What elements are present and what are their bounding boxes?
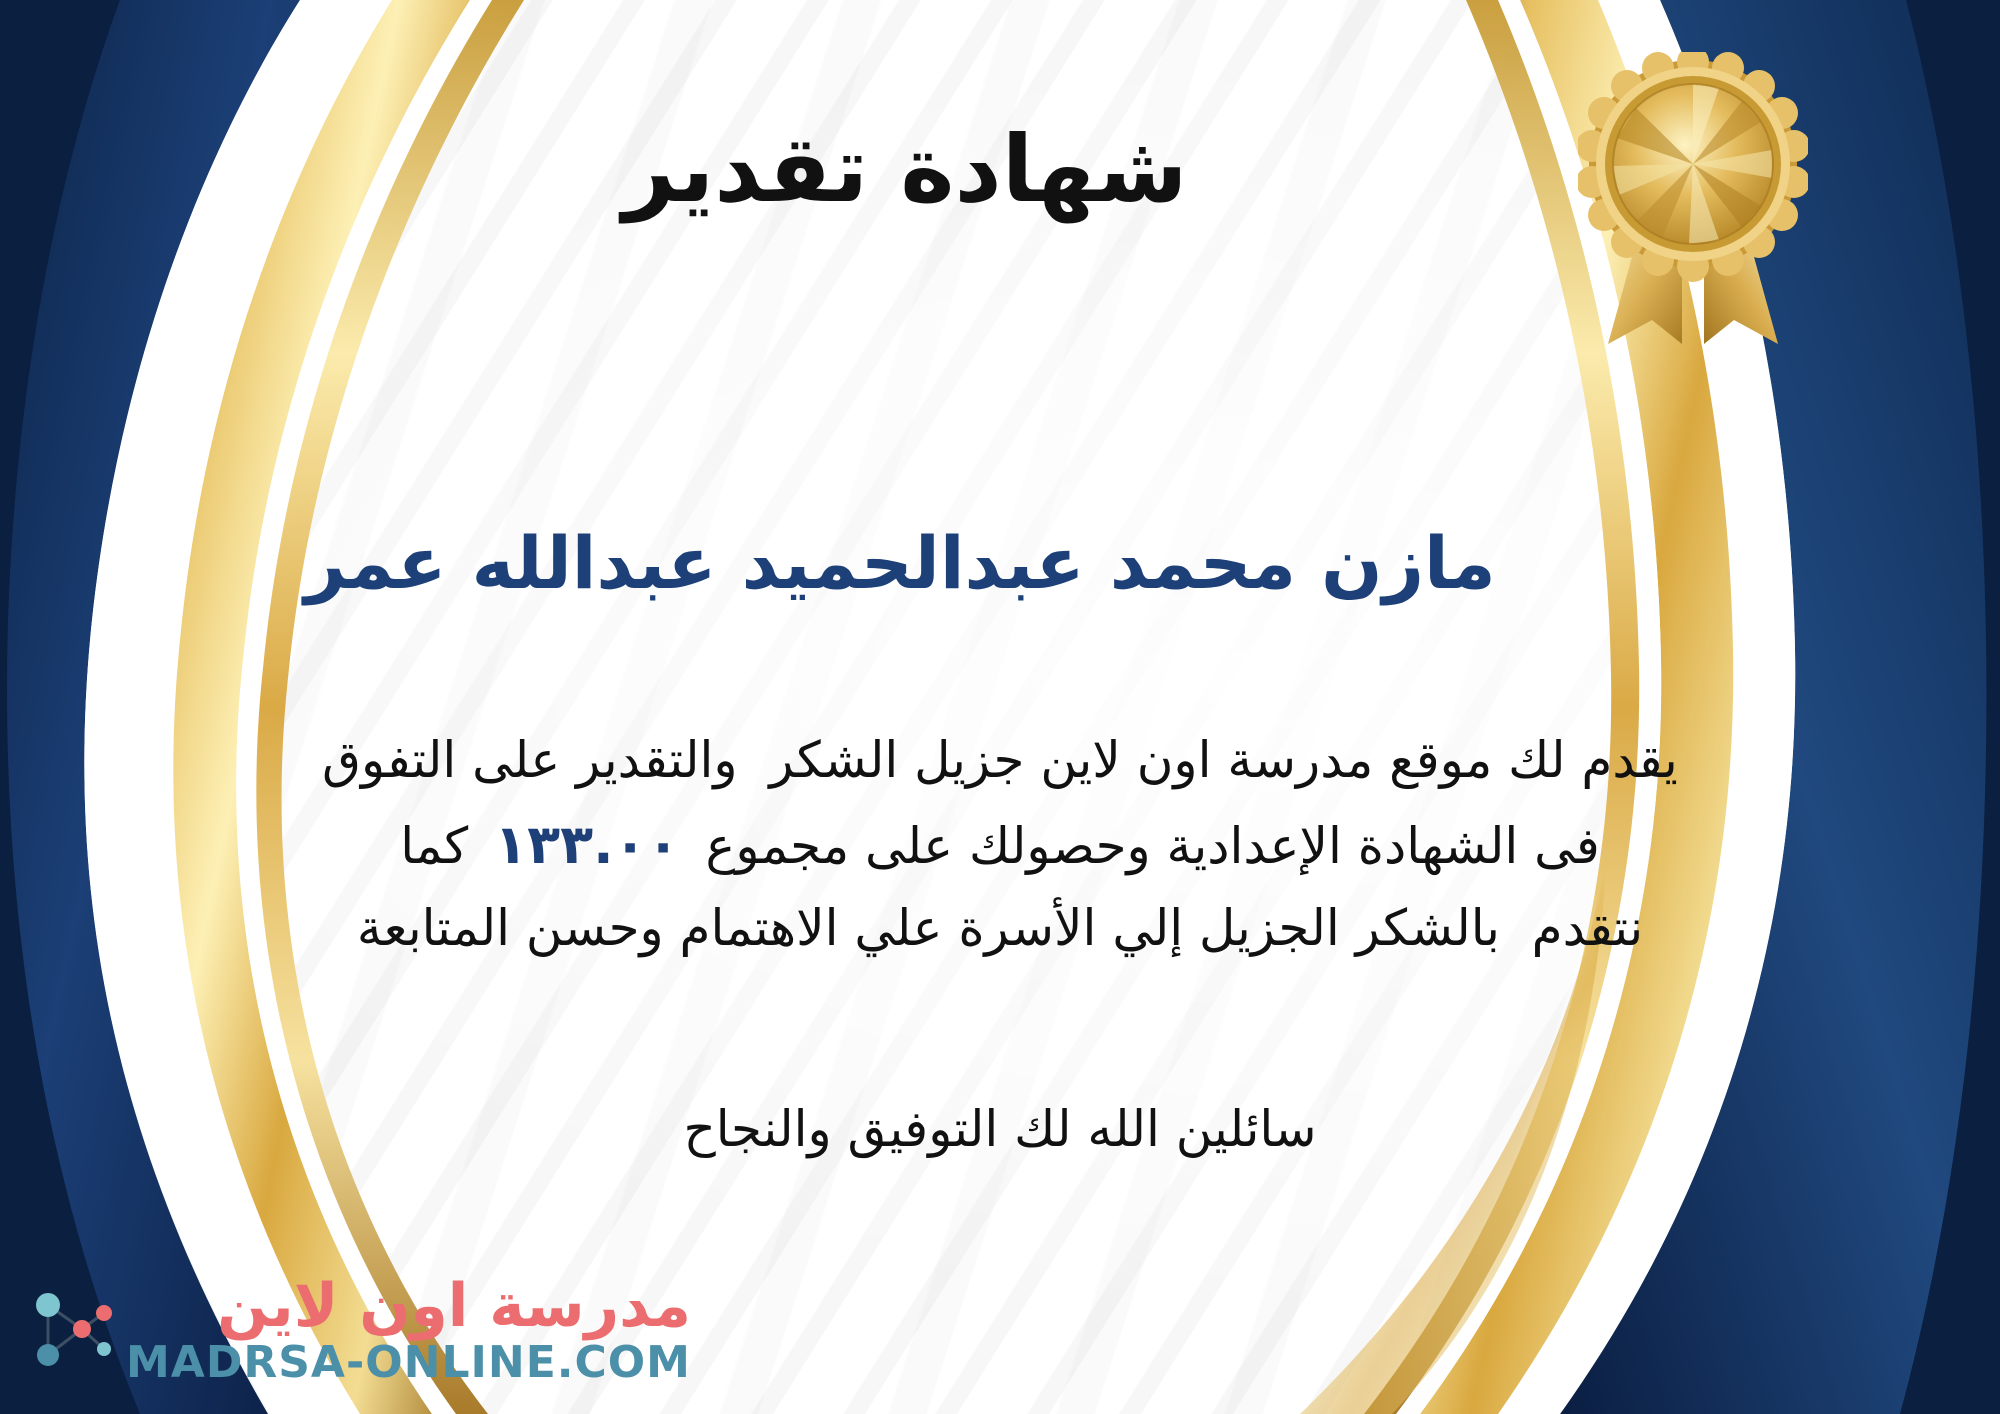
closing-line: سائلين الله لك التوفيق والنجاح <box>60 1100 1940 1158</box>
brand-text-group: مدرسة اون لاين MADRSA-ONLINE.COM <box>126 1276 691 1386</box>
grade-value: ١٣٣.٠٠ <box>468 813 705 876</box>
brand-name-arabic: مدرسة اون لاين <box>217 1276 691 1336</box>
certificate-title: شهادة تقدير <box>0 118 1810 221</box>
brand-logo[interactable]: مدرسة اون لاين MADRSA-ONLINE.COM <box>24 1276 691 1386</box>
body-line-2-before: فى الشهادة الإعدادية وحصولك على مجموع <box>706 817 1600 875</box>
network-nodes-icon <box>24 1285 116 1377</box>
body-line-2-after: كما <box>400 817 468 875</box>
body-line-1: يقدم لك موقع مدرسة اون لاين جزيل الشكر و… <box>60 720 1940 801</box>
body-line-2: فى الشهادة الإعدادية وحصولك على مجموع١٣٣… <box>60 801 1940 888</box>
body-line-3: نتقدم بالشكر الجزيل إلي الأسرة علي الاهت… <box>60 888 1940 969</box>
certificate-body: يقدم لك موقع مدرسة اون لاين جزيل الشكر و… <box>60 720 1940 969</box>
brand-website-url[interactable]: MADRSA-ONLINE.COM <box>126 1340 691 1386</box>
student-name: مازن محمد عبدالحميد عبدالله عمر <box>0 520 1800 606</box>
certificate-canvas: شهادة تقدير مازن محمد عبدالحميد عبدالله … <box>0 0 2000 1414</box>
